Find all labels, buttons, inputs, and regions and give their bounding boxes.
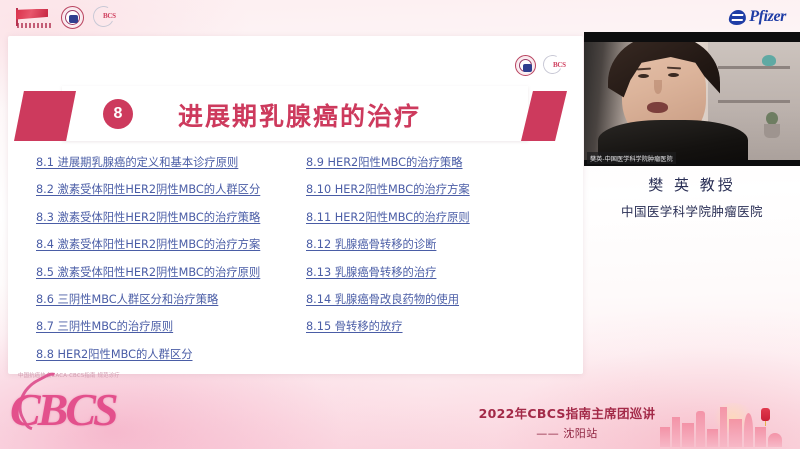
csco-seal-icon-small	[515, 55, 536, 76]
section-banner: 8 进展期乳腺癌的治疗	[0, 86, 583, 143]
toc-item[interactable]: 8.12 乳腺癌骨转移的诊断	[306, 238, 571, 252]
toc-item[interactable]: 8.6 三阴性MBC人群区分和治疗策略	[36, 293, 304, 307]
pfizer-logo: Pfizer	[729, 8, 786, 26]
section-number-badge: 8	[103, 99, 133, 129]
toc-item[interactable]: 8.4 激素受体阳性HER2阴性MBC的治疗方案	[36, 238, 304, 252]
video-letterbox-top	[584, 32, 800, 42]
toc-left-column: 8.1 进展期乳腺癌的定义和基本诊疗原则 8.2 激素受体阳性HER2阴性MBC…	[36, 156, 304, 375]
pfizer-mark-icon	[729, 10, 748, 25]
presentation-slide: BCS Pfizer BCS 8 进展期乳腺癌的治疗 8.1 进展期乳腺癌的定义…	[0, 0, 800, 449]
video-decor-object	[762, 55, 776, 66]
toc-item[interactable]: 8.7 三阴性MBC的治疗原则	[36, 320, 304, 334]
video-participant-label: 樊英-中国医学科学院肿瘤医院	[587, 152, 676, 164]
toc-item[interactable]: 8.15 骨转移的放疗	[306, 320, 571, 334]
speaker-mouth	[647, 102, 668, 113]
toc-item[interactable]: 8.8 HER2阳性MBC的人群区分	[36, 348, 304, 362]
cbcs-ring-icon-small: BCS	[543, 55, 570, 76]
event-title: 2022年CBCS指南主席团巡讲 —— 沈阳站	[452, 403, 682, 441]
caca-flag-icon	[16, 8, 52, 28]
speaker-eye	[638, 74, 649, 78]
dragon-caption: 中国抗癌协会CACA·CBCS指南 规范诊疗	[18, 371, 120, 379]
event-title-line2: —— 沈阳站	[452, 425, 682, 441]
speaker-organization: 中国医学科学院肿瘤医院	[584, 201, 800, 220]
pfizer-wordmark: Pfizer	[749, 8, 786, 26]
speaker-nose	[654, 80, 662, 94]
csco-seal-icon	[61, 6, 84, 29]
mid-logo-group: BCS	[515, 55, 570, 76]
toc-item[interactable]: 8.14 乳腺癌骨改良药物的使用	[306, 293, 571, 307]
toc-item[interactable]: 8.3 激素受体阳性HER2阴性MBC的治疗策略	[36, 211, 304, 225]
toc-item[interactable]: 8.9 HER2阳性MBC的治疗策略	[306, 156, 571, 170]
video-shelf	[718, 66, 790, 69]
page-title: 进展期乳腺癌的治疗	[178, 97, 421, 133]
speaker-name: 樊 英 教授	[584, 174, 800, 195]
video-scene	[584, 32, 800, 166]
cbcs-dragon-logo: 中国抗癌协会CACA·CBCS指南 规范诊疗 CBCS	[8, 371, 173, 443]
toc-item[interactable]: 8.2 激素受体阳性HER2阴性MBC的人群区分	[36, 183, 304, 197]
speaker-eye	[668, 73, 679, 77]
toc-item[interactable]: 8.13 乳腺癌骨转移的治疗	[306, 266, 571, 280]
speaker-video-feed[interactable]: 樊英-中国医学科学院肿瘤医院	[584, 32, 800, 166]
speaker-caption: 樊 英 教授 中国医学科学院肿瘤医院	[584, 174, 800, 220]
event-title-line1: 2022年CBCS指南主席团巡讲	[452, 403, 682, 422]
toc-item[interactable]: 8.1 进展期乳腺癌的定义和基本诊疗原则	[36, 156, 304, 170]
toc-item[interactable]: 8.11 HER2阳性MBC的治疗原则	[306, 211, 571, 225]
dragon-wordmark: CBCS	[10, 383, 116, 436]
banner-left-tab	[14, 91, 76, 141]
header-logo-group: BCS	[16, 6, 123, 29]
cbcs-ring-icon: BCS	[93, 6, 123, 29]
video-shelf	[718, 100, 790, 103]
video-pot-object	[764, 124, 780, 138]
toc-item[interactable]: 8.10 HER2阳性MBC的治疗方案	[306, 183, 571, 197]
lantern-icon	[761, 408, 770, 421]
toc-right-column: 8.9 HER2阳性MBC的治疗策略 8.10 HER2阳性MBC的治疗方案 8…	[306, 156, 571, 348]
toc-item[interactable]: 8.5 激素受体阳性HER2阴性MBC的治疗原则	[36, 266, 304, 280]
